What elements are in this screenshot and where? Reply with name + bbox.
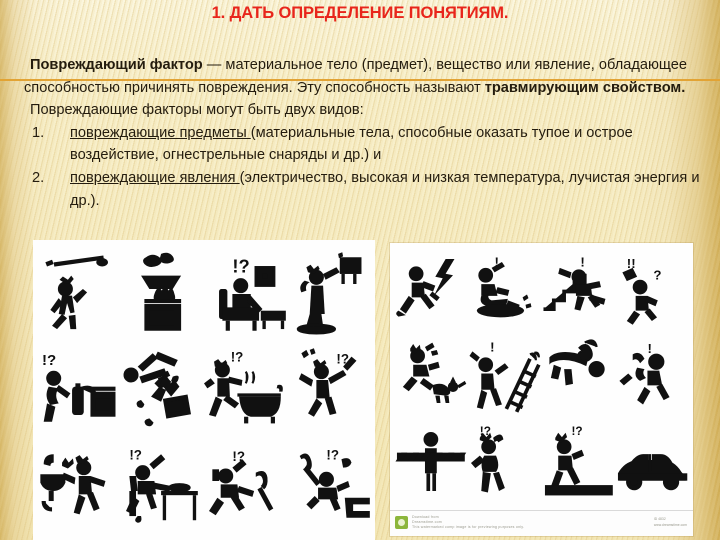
- pictogram-person-hit-by-falling-beam: !: [615, 334, 689, 419]
- pictogram-person-on-sofa-surprised: !?: [204, 246, 288, 342]
- pictogram-person-falling-down-stairs: !: [542, 249, 616, 334]
- pictogram-person-behind-striped-barrier: [394, 419, 468, 504]
- pictogram-person-bitten-by-dog: [394, 334, 468, 419]
- pictogram-person-tripping-over-cable: [542, 334, 616, 419]
- list-item-2-term: повреждающие явления: [70, 170, 240, 186]
- svg-text:!?: !?: [129, 447, 142, 462]
- pictogram-person-falling-with-ladder: !: [468, 334, 542, 419]
- factor-list: повреждающие предметы (материальные тела…: [24, 122, 714, 212]
- svg-text:!?: !?: [42, 352, 56, 369]
- pictogram-grid-left: !?: [33, 240, 375, 540]
- list-item-1-term: повреждающие предметы: [70, 125, 251, 141]
- watermark-bar: Download from Dreamstime.com This waterm…: [390, 510, 693, 536]
- pictogram-person-climbing-ladder: !?: [468, 419, 542, 504]
- pictogram-person-falling-down-stairs-with-cane: !?: [288, 438, 372, 534]
- pictogram-person-electric-shock-at-sink: [37, 438, 121, 534]
- svg-text:?: ?: [654, 268, 662, 283]
- kinds-intro-paragraph: Повреждающие факторы могут быть двух вид…: [24, 99, 714, 122]
- body-copy: Повреждающий фактор — материальное тело …: [24, 54, 714, 212]
- svg-text:!?: !?: [571, 424, 582, 438]
- definition-property-term: травмирующим свойством.: [485, 80, 686, 96]
- pictogram-television-explosion-falling: [121, 342, 205, 438]
- pictogram-person-slipping-into-hot-bathtub: !?: [204, 342, 288, 438]
- pictogram-grid-right: ! !: [390, 243, 693, 510]
- watermark-line-3: This watermarked comp image is for previ…: [412, 525, 524, 530]
- svg-text:!: !: [580, 254, 584, 269]
- illustration-right: ! !: [390, 243, 693, 536]
- pictogram-person-falling-off-chair-table: !?: [121, 438, 205, 534]
- list-item: повреждающие явления (электричество, выс…: [24, 167, 714, 212]
- watermark-meta: ID 4832 www.dreamstime.com: [654, 516, 687, 528]
- illustration-left: !?: [33, 240, 375, 540]
- svg-text:!?: !?: [232, 255, 249, 276]
- pictogram-person-hit-on-head: !?: [288, 342, 372, 438]
- pictogram-person-electrocuted-by-appliance: [288, 246, 372, 342]
- watermark-badge-icon: [395, 516, 408, 529]
- pictogram-person-tripping-over-kerb: !?: [542, 419, 616, 504]
- pictogram-person-slipping-on-wet-floor: !: [468, 249, 542, 334]
- watermark-site: www.dreamstime.com: [654, 522, 687, 528]
- pictogram-person-slipping-with-cane: !?: [204, 438, 288, 534]
- svg-text:!: !: [648, 341, 652, 356]
- pictogram-person-hit-by-falling-object: !! ?: [615, 249, 689, 334]
- pictogram-person-struck-by-car: [615, 419, 689, 504]
- pictogram-person-struck-by-lightning-bolt: [394, 249, 468, 334]
- svg-text:!?: !?: [326, 447, 339, 462]
- list-item: повреждающие предметы (материальные тела…: [24, 122, 714, 167]
- pictogram-kitchen-stove-fire-smoke: [121, 246, 205, 342]
- svg-text:!: !: [490, 339, 494, 354]
- page-title: 1. ДАТЬ ОПРЕДЕЛЕНИЕ ПОНЯТИЯМ.: [0, 4, 720, 23]
- slide-canvas: 1. ДАТЬ ОПРЕДЕЛЕНИЕ ПОНЯТИЯМ. Повреждающ…: [0, 0, 720, 540]
- pictogram-person-hit-by-ceiling-fan: [37, 246, 121, 342]
- definition-term: Повреждающий фактор: [30, 57, 203, 73]
- watermark-source: Download from Dreamstime.com This waterm…: [412, 515, 524, 530]
- definition-paragraph: Повреждающий фактор — материальное тело …: [24, 54, 714, 99]
- pictogram-person-gas-cylinder-stove-explosion: !?: [37, 342, 121, 438]
- svg-text:!?: !?: [231, 350, 244, 365]
